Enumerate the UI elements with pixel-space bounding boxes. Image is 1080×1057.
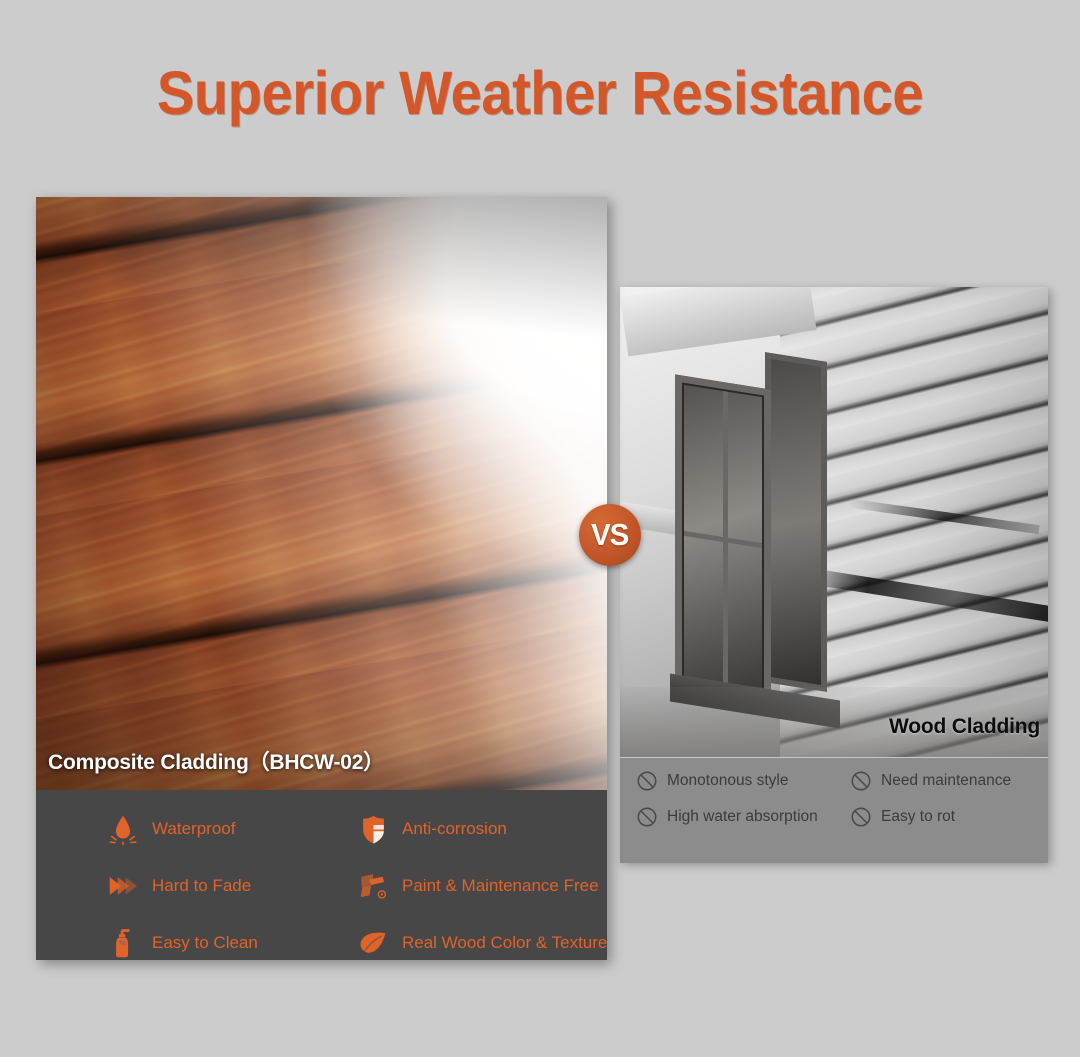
feature-label: Hard to Fade: [152, 876, 251, 896]
leaf-icon: [358, 926, 388, 960]
drawback-item: Need maintenance: [850, 770, 1036, 792]
wood-cladding-photo: Wood Cladding: [620, 287, 1048, 757]
water-drop-icon: [108, 812, 138, 846]
wood-cladding-drawbacks-list: Monotonous style Need maintenance High w…: [636, 770, 1036, 828]
feature-item: Waterproof: [108, 808, 358, 850]
spray-bottle-icon: [108, 926, 138, 960]
drawback-label: Easy to rot: [881, 808, 955, 826]
prohibited-icon: [850, 806, 872, 828]
vs-badge: VS: [579, 504, 641, 566]
composite-cladding-photo: Composite Cladding（BHCW-02）: [36, 197, 607, 790]
paint-roller-icon: [358, 869, 388, 903]
feature-label: Real Wood Color & Texture: [402, 933, 607, 953]
composite-cladding-label: Composite Cladding（BHCW-02）: [48, 746, 384, 776]
prohibited-icon: [636, 770, 658, 792]
feature-item: Anti-corrosion: [358, 808, 608, 850]
wood-cladding-drawbacks-bar: Monotonous style Need maintenance High w…: [620, 757, 1048, 863]
feature-item: Hard to Fade: [108, 865, 358, 907]
window-glass: [684, 385, 762, 689]
feature-label: Paint & Maintenance Free: [402, 876, 599, 896]
prohibited-icon: [850, 770, 872, 792]
drawback-label: Monotonous style: [667, 772, 789, 790]
composite-cladding-panel: Composite Cladding（BHCW-02） Waterproof: [36, 197, 607, 960]
wood-cladding-panel: Wood Cladding Monotonous style Need main…: [620, 287, 1048, 862]
drawback-label: Need maintenance: [881, 772, 1011, 790]
open-casement-window: [675, 374, 771, 699]
composite-cladding-features-list: Waterproof Anti-corrosion: [108, 808, 608, 964]
window-opening: [765, 352, 827, 692]
prohibited-icon: [636, 806, 658, 828]
vs-label: VS: [591, 517, 628, 553]
drawback-item: Easy to rot: [850, 806, 1036, 828]
page-title: Superior Weather Resistance: [43, 58, 1037, 128]
feature-item: Paint & Maintenance Free: [358, 865, 608, 907]
feature-label: Easy to Clean: [152, 933, 258, 953]
photo-vignette: [36, 197, 607, 790]
feature-item: Easy to Clean: [108, 922, 358, 964]
feature-label: Waterproof: [152, 819, 235, 839]
shield-icon: [358, 812, 388, 846]
drawback-item: High water absorption: [636, 806, 850, 828]
composite-cladding-features-bar: Waterproof Anti-corrosion: [36, 790, 607, 960]
drawback-label: High water absorption: [667, 808, 818, 826]
feature-label: Anti-corrosion: [402, 819, 507, 839]
drawback-item: Monotonous style: [636, 770, 850, 792]
fade-arrows-icon: [108, 869, 138, 903]
feature-item: Real Wood Color & Texture: [358, 922, 608, 964]
wood-cladding-label: Wood Cladding: [889, 715, 1040, 739]
